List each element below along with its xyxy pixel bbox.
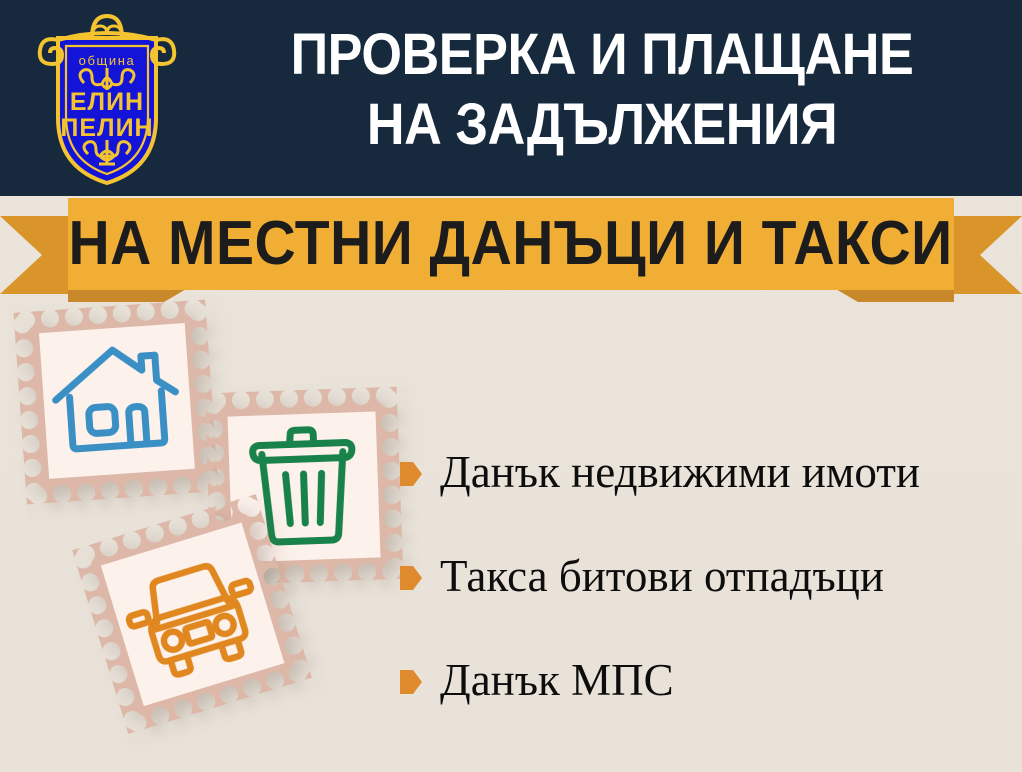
- crest-top-text: община: [79, 53, 136, 68]
- list-item[interactable]: Такса битови отпадъци: [400, 524, 1010, 628]
- ribbon-band: НА МЕСТНИ ДАНЪЦИ И ТАКСИ: [68, 198, 954, 290]
- header-banner: община ЕЛИН ПЕЛИН: [0, 0, 1022, 196]
- crest-name-line2: ПЕЛИН: [60, 114, 153, 142]
- arrow-bullet-icon: [400, 565, 422, 591]
- list-item-label: Данък недвижими имоти: [440, 447, 920, 497]
- tax-types-list: Данък недвижими имоти Такса битови отпад…: [400, 420, 1010, 732]
- arrow-bullet-icon: [400, 669, 422, 695]
- stamp-card-property: [14, 300, 219, 505]
- page-title: ПРОВЕРКА И ПЛАЩАНЕ НА ЗАДЪЛЖЕНИЯ: [237, 20, 968, 160]
- ribbon-fold-left: [68, 288, 188, 302]
- page-title-line-1: ПРОВЕРКА И ПЛАЩАНЕ: [237, 20, 968, 90]
- trash-bin-icon: [252, 428, 355, 542]
- stamp-cards-group: [0, 290, 420, 772]
- ribbon-text: НА МЕСТНИ ДАНЪЦИ И ТАКСИ: [69, 213, 953, 275]
- arrow-bullet-icon: [400, 461, 422, 487]
- page-title-line-2: НА ЗАДЪЛЖЕНИЯ: [237, 90, 968, 160]
- subtitle-ribbon: НА МЕСТНИ ДАНЪЦИ И ТАКСИ: [0, 196, 1022, 308]
- ribbon-fold-right: [834, 288, 954, 302]
- list-item-label: Данък МПС: [440, 655, 674, 705]
- elin-pelin-municipality-crest: община ЕЛИН ПЕЛИН: [28, 8, 186, 188]
- list-item[interactable]: Данък МПС: [400, 628, 1010, 732]
- crest-name-line1: ЕЛИН: [70, 88, 144, 116]
- list-item-label: Такса битови отпадъци: [440, 551, 884, 601]
- list-item[interactable]: Данък недвижими имоти: [400, 420, 1010, 524]
- poster-canvas: община ЕЛИН ПЕЛИН: [0, 0, 1022, 772]
